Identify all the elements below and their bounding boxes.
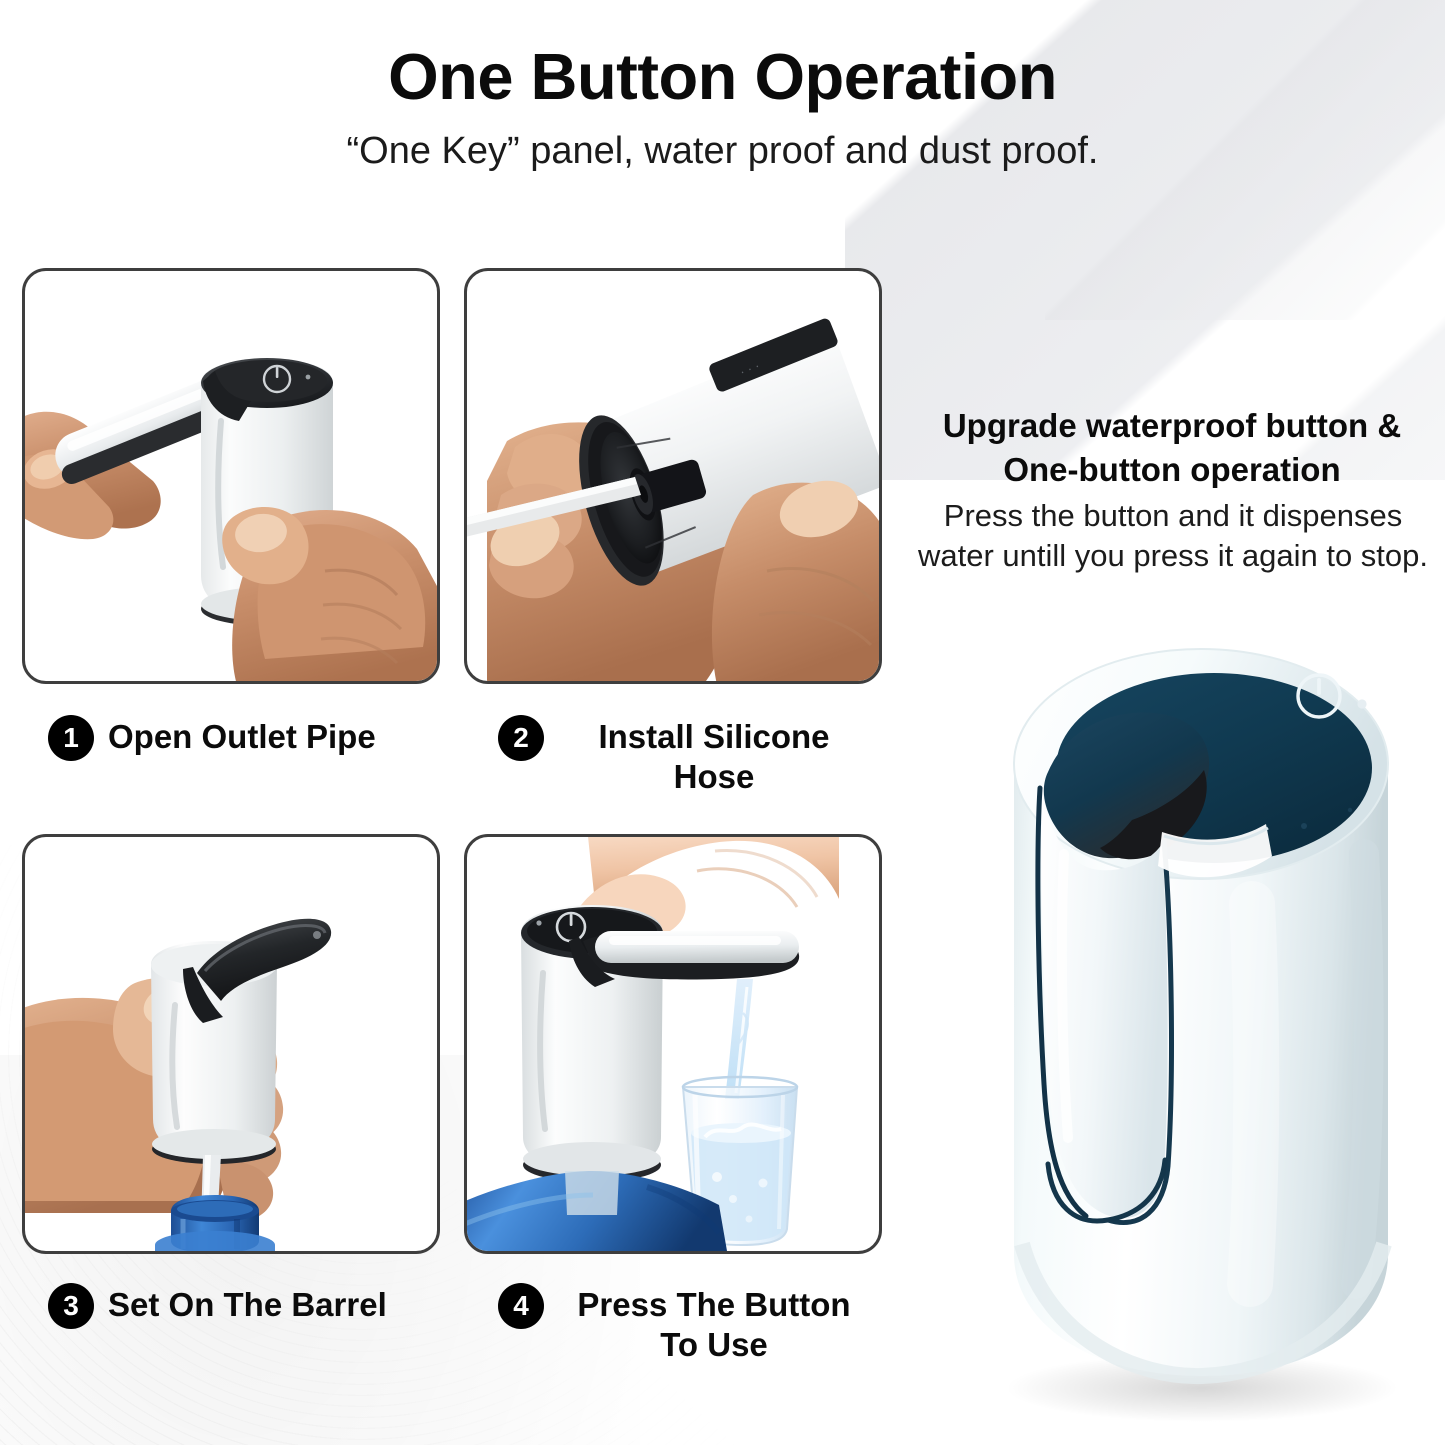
step-number-badge-3: 3 [48,1283,94,1329]
step-caption-2: 2 Install Silicone Hose [498,714,898,798]
step-panel-3 [22,834,440,1254]
feature-title: Upgrade waterproof button & One-button o… [898,404,1445,491]
feature-description: Press the button and it dispenses water … [906,496,1440,577]
hero-product-image [952,604,1445,1434]
step-panel-1 [22,268,440,684]
step-caption-4: 4 Press The Button To Use [498,1282,898,1366]
step-label-4: Press The Button To Use [558,1282,870,1366]
step-number-badge-4: 4 [498,1283,544,1329]
illustration-set-on-barrel [25,837,437,1251]
step-panel-4 [464,834,882,1254]
step-caption-1: 1 Open Outlet Pipe [48,714,448,761]
page-title: One Button Operation [0,44,1445,109]
feature-title-line-1: Upgrade waterproof button & [898,404,1445,448]
step-panel-2: · · · [464,268,882,684]
infographic-canvas: One Button Operation “One Key” panel, wa… [0,0,1445,1445]
page-subtitle: “One Key” panel, water proof and dust pr… [0,130,1445,173]
feature-title-line-2: One-button operation [898,448,1445,492]
illustration-hero-dispenser [952,604,1445,1434]
step-caption-3: 3 Set On The Barrel [48,1282,448,1329]
step-label-2: Install Silicone Hose [558,714,870,798]
step-label-3: Set On The Barrel [108,1282,387,1325]
illustration-open-outlet-pipe [25,271,437,681]
illustration-install-silicone-hose: · · · [467,271,879,681]
step-label-1: Open Outlet Pipe [108,714,376,757]
step-number-badge-1: 1 [48,715,94,761]
led-indicator-dot [1357,699,1366,708]
step-number-badge-2: 2 [498,715,544,761]
illustration-press-button-to-use [467,837,879,1251]
